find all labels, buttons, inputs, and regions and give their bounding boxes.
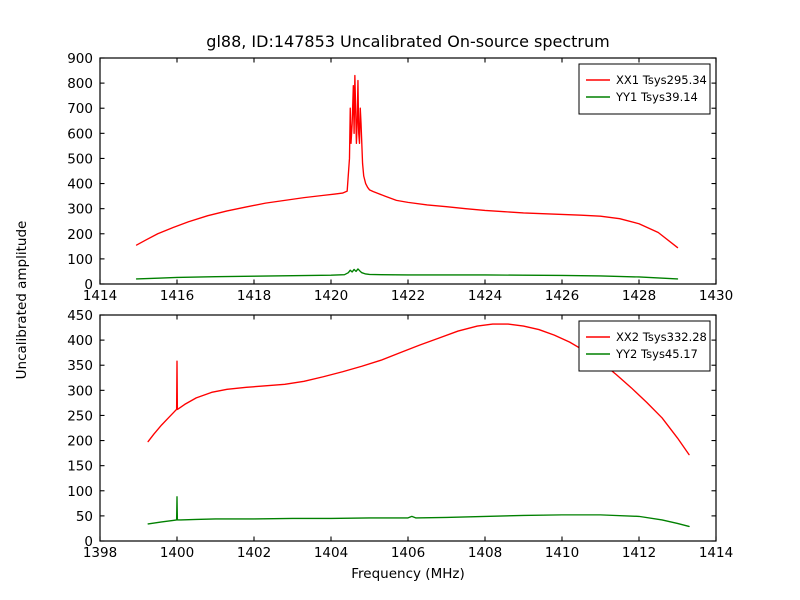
xtick-label-bottom-8: 1414 xyxy=(699,545,733,561)
ytick-label-bottom-5: 250 xyxy=(67,408,93,424)
bottom-panel-legend[interactable]: XX2 Tsys332.28YY2 Tsys45.17 xyxy=(579,321,710,371)
ytick-label-bottom-4: 200 xyxy=(67,434,93,450)
ytick-label-bottom-6: 300 xyxy=(67,383,93,399)
ytick-label-bottom-1: 50 xyxy=(76,509,93,525)
ytick-label-bottom-7: 350 xyxy=(67,358,93,374)
x-axis-label: Frequency (MHz) xyxy=(351,566,464,582)
ytick-label-top-0: 0 xyxy=(84,277,93,293)
xtick-label-top-3: 1420 xyxy=(314,288,348,304)
legend-label-bottom-1[interactable]: YY2 Tsys45.17 xyxy=(615,347,698,361)
xtick-label-top-6: 1426 xyxy=(545,288,579,304)
ytick-label-top-9: 900 xyxy=(67,51,93,67)
ytick-label-bottom-9: 450 xyxy=(67,308,93,324)
legend-label-top-1[interactable]: YY1 Tsys39.14 xyxy=(615,90,698,104)
xtick-label-top-7: 1428 xyxy=(622,288,656,304)
figure-canvas: gl88, ID:147853 Uncalibrated On-source s… xyxy=(0,0,800,600)
y-axis-label: Uncalibrated amplitude xyxy=(14,221,30,380)
xtick-label-bottom-7: 1412 xyxy=(622,545,656,561)
ytick-label-top-6: 600 xyxy=(67,126,93,142)
top-panel-axes: 1414141614181420142214241426142814300100… xyxy=(67,51,733,304)
ytick-label-top-7: 700 xyxy=(67,101,93,117)
ytick-label-top-4: 400 xyxy=(67,177,93,193)
xtick-label-top-5: 1424 xyxy=(468,288,502,304)
xtick-label-top-2: 1418 xyxy=(237,288,271,304)
spectrum-figure: gl88, ID:147853 Uncalibrated On-source s… xyxy=(0,0,800,600)
ytick-label-top-3: 300 xyxy=(67,202,93,218)
legend-label-top-0[interactable]: XX1 Tsys295.34 xyxy=(616,73,707,87)
xtick-label-top-8: 1430 xyxy=(699,288,733,304)
bottom-panel-axes: 1398140014021404140614081410141214140501… xyxy=(67,308,733,561)
ytick-label-top-1: 100 xyxy=(67,252,93,268)
xtick-label-top-4: 1422 xyxy=(391,288,425,304)
legend-frame-top xyxy=(579,64,710,114)
ytick-label-bottom-0: 0 xyxy=(84,534,93,550)
xtick-label-bottom-5: 1408 xyxy=(468,545,502,561)
xtick-label-bottom-2: 1402 xyxy=(237,545,271,561)
ytick-label-bottom-3: 150 xyxy=(67,459,93,475)
top-panel-legend[interactable]: XX1 Tsys295.34YY1 Tsys39.14 xyxy=(579,64,710,114)
legend-label-bottom-0[interactable]: XX2 Tsys332.28 xyxy=(616,330,707,344)
legend-frame-bottom xyxy=(579,321,710,371)
xtick-label-bottom-6: 1410 xyxy=(545,545,579,561)
ytick-label-bottom-2: 100 xyxy=(67,484,93,500)
figure-title: gl88, ID:147853 Uncalibrated On-source s… xyxy=(206,32,609,51)
ytick-label-top-8: 800 xyxy=(67,76,93,92)
xtick-label-bottom-4: 1406 xyxy=(391,545,425,561)
xtick-label-top-1: 1416 xyxy=(160,288,194,304)
ytick-label-top-2: 200 xyxy=(67,227,93,243)
xtick-label-bottom-3: 1404 xyxy=(314,545,348,561)
ytick-label-bottom-8: 400 xyxy=(67,333,93,349)
ytick-label-top-5: 500 xyxy=(67,151,93,167)
xtick-label-bottom-1: 1400 xyxy=(160,545,194,561)
